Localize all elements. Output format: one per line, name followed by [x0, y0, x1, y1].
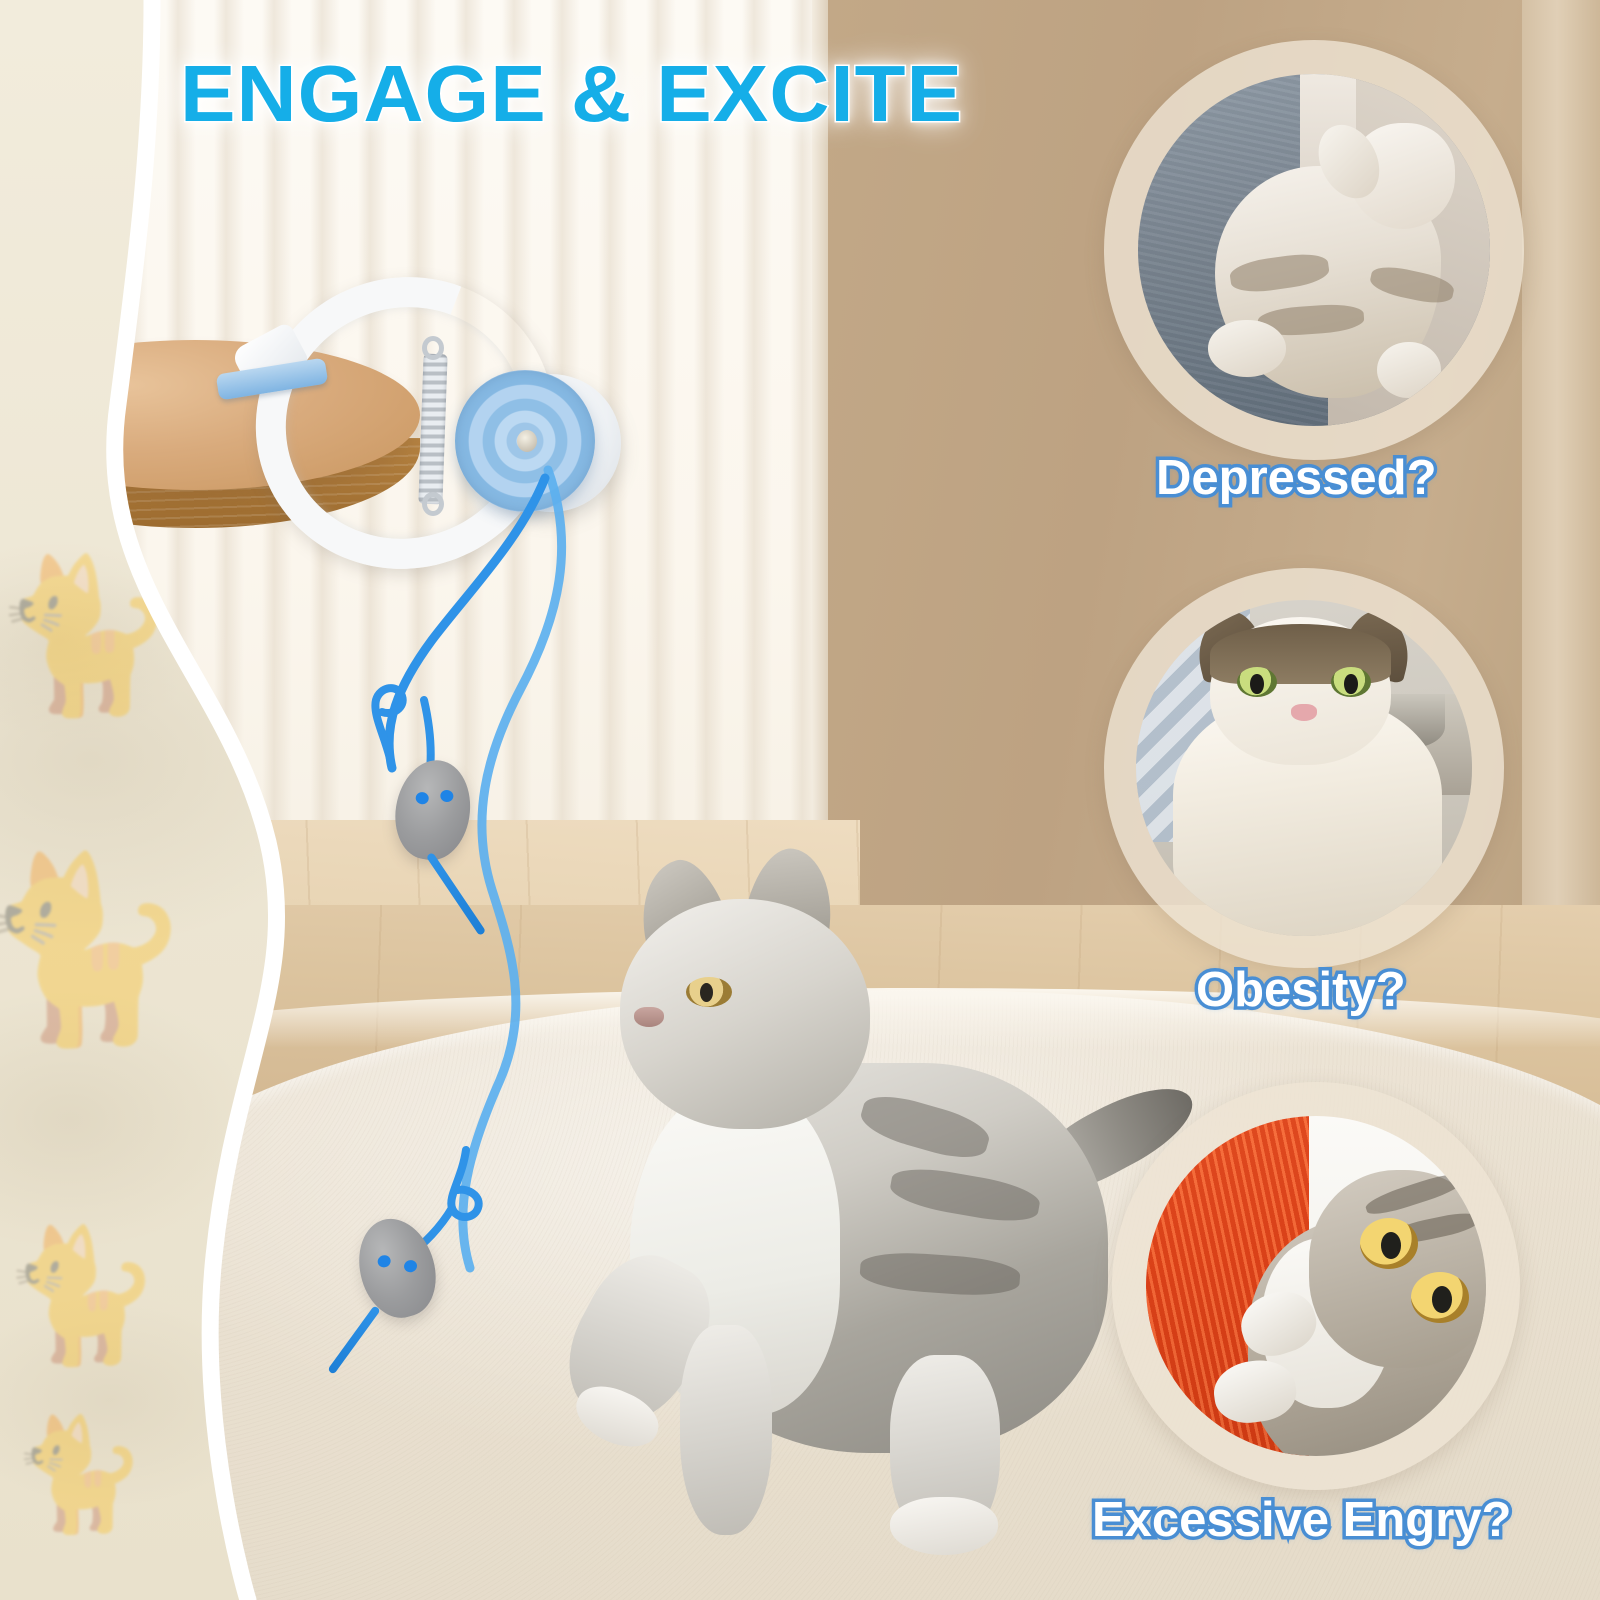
- cat-silhouette-watermark-icon: 🐈: [10, 1420, 147, 1530]
- cat-silhouette-watermark-icon: 🐈: [0, 860, 194, 1040]
- problem-card-depressed: [1104, 40, 1524, 460]
- cat-front-leg: [680, 1325, 772, 1535]
- caption-obesity: Obesity?: [1196, 962, 1406, 1018]
- mouse-eye: [415, 791, 430, 805]
- product-banner: 🐈 🐈 🐈 🐈: [0, 0, 1600, 1600]
- caption-excessive-angry: Excessive Engry?: [1092, 1492, 1511, 1548]
- hero-cat: [560, 855, 1160, 1575]
- caption-depressed: Depressed?: [1156, 450, 1437, 506]
- cat-paw: [890, 1497, 998, 1555]
- problem-card-angry: [1112, 1082, 1520, 1490]
- cat-silhouette-watermark-icon: 🐈: [0, 1230, 162, 1360]
- photo-cat-obese: [1136, 600, 1472, 936]
- wall-return-panel: [1522, 0, 1600, 1015]
- photo-cat-scratching: [1146, 1116, 1486, 1456]
- photo-cat-depressed: [1138, 74, 1490, 426]
- cat-nose: [634, 1007, 664, 1027]
- mouse-eye: [403, 1259, 419, 1274]
- spring-hook-icon: [422, 492, 444, 516]
- mouse-eye: [440, 789, 455, 803]
- page-title: ENGAGE & EXCITE: [180, 48, 963, 140]
- spring-hook-icon: [422, 336, 444, 360]
- problem-card-obesity: [1104, 568, 1504, 968]
- mouse-eye: [376, 1254, 392, 1269]
- cat-teaser-clamp-device: [255, 278, 615, 578]
- spool-hub: [517, 430, 537, 452]
- cat-pupil: [700, 983, 713, 1002]
